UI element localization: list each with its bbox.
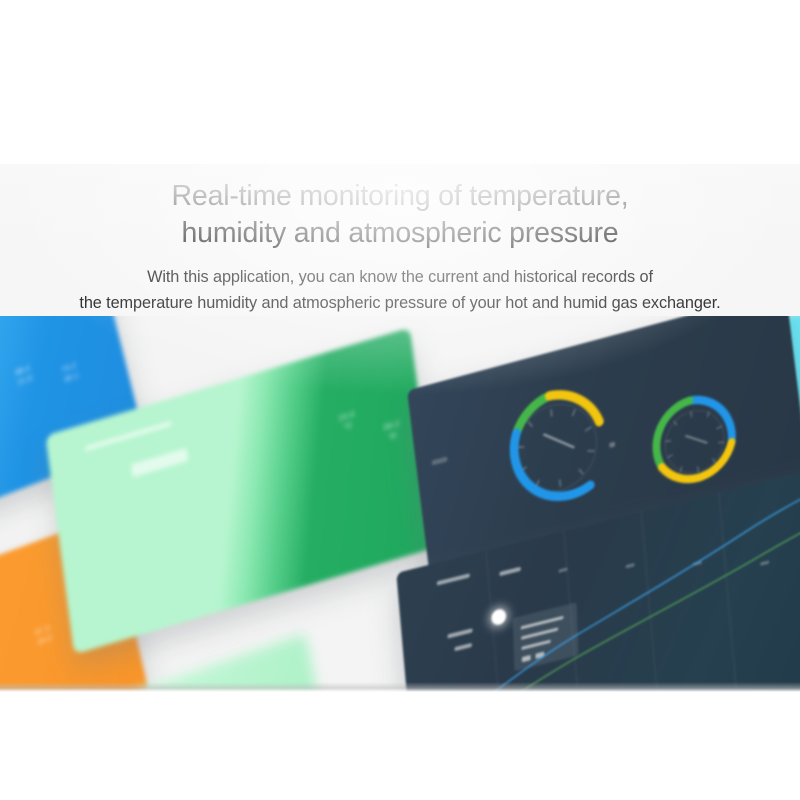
green-phone-title-bar bbox=[85, 421, 172, 451]
landing-page: 88.4 21.6 74.2 30.1 hPa 31.8 24.5 67.3 2… bbox=[0, 0, 800, 800]
hero-text-block: Real-time monitoring of temperature, hum… bbox=[0, 164, 800, 316]
device-mint-sliver-bottom bbox=[135, 633, 328, 692]
gauge-card-corner-marker bbox=[432, 456, 448, 465]
page-subtitle: With this application, you can know the … bbox=[0, 264, 800, 316]
temperature-gauge bbox=[484, 365, 628, 531]
green-phone-value-block bbox=[131, 448, 188, 478]
page-title: Real-time monitoring of temperature, hum… bbox=[0, 178, 800, 252]
